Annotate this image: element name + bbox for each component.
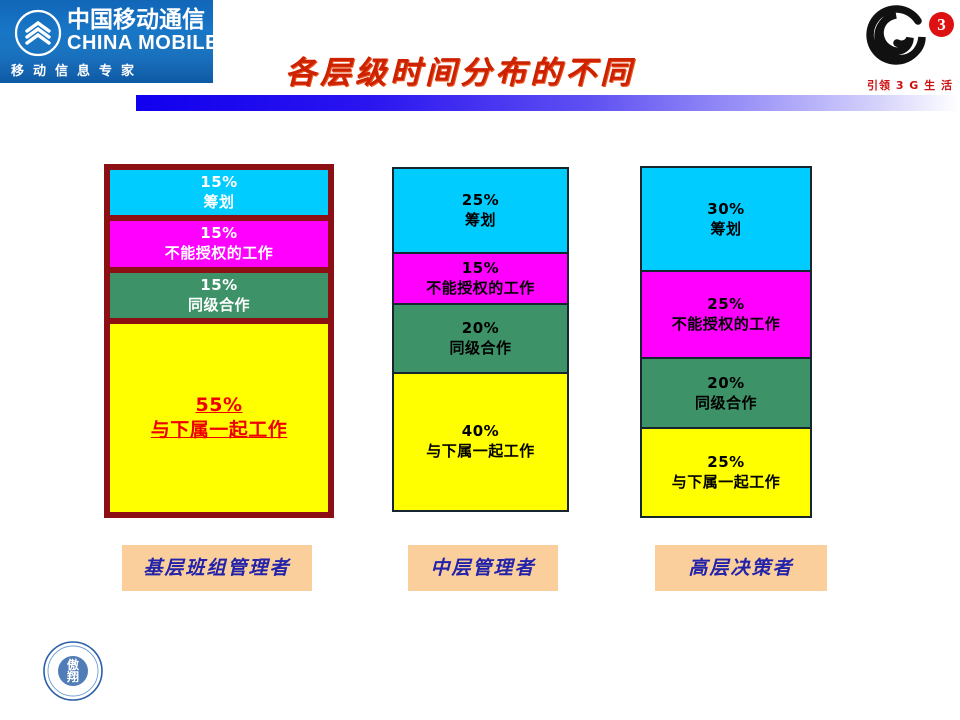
segment-label: 筹划 [710, 219, 741, 239]
threeg-corner-logo: 3 引领 3 G 生 活 [862, 2, 958, 102]
stacked-bar-column-0: 15%筹划15%不能授权的工作15%同级合作55%与下属一起工作 [104, 164, 334, 518]
segment-percent: 55% [196, 393, 243, 418]
brand-tagline-bar: 移动信息专家 [0, 58, 213, 83]
segment-label: 与下属一起工作 [672, 472, 781, 492]
segment-percent: 25% [707, 295, 744, 314]
china-mobile-logo-icon [14, 9, 62, 57]
brand-name-en: CHINA MOBILE [67, 32, 213, 54]
segment-label: 同级合作 [695, 393, 757, 413]
page-title: 各层级时间分布的不同 [245, 47, 675, 92]
role-label-senior: 高层决策者 [655, 545, 827, 591]
circular-seal-icon: 傲 翔 [40, 638, 106, 704]
brand-name-cn: 中国移动通信 [67, 7, 205, 33]
threeg-tagline: 引领 3 G 生 活 [862, 77, 958, 93]
segment-percent: 15% [200, 173, 237, 192]
bar-segment: 15%筹划 [110, 170, 328, 221]
segment-percent: 40% [462, 422, 499, 441]
segment-percent: 30% [707, 200, 744, 219]
segment-label: 不能授权的工作 [165, 243, 274, 263]
bar-segment: 55%与下属一起工作 [110, 324, 328, 512]
svg-text:翔: 翔 [66, 669, 79, 684]
bar-segment: 20%同级合作 [394, 305, 567, 373]
stacked-bar-column-1: 25%筹划15%不能授权的工作20%同级合作40%与下属一起工作 [392, 167, 569, 512]
header-gradient-rule [136, 95, 960, 111]
segment-percent: 25% [462, 191, 499, 210]
bar-segment: 20%同级合作 [642, 359, 810, 429]
bar-segment: 25%不能授权的工作 [642, 272, 810, 359]
g-spiral-icon [866, 4, 932, 70]
segment-label: 同级合作 [188, 295, 250, 315]
bar-segment: 15%不能授权的工作 [110, 221, 328, 272]
segment-label: 筹划 [465, 210, 496, 230]
segment-percent: 15% [200, 276, 237, 295]
bar-segment: 25%与下属一起工作 [642, 429, 810, 516]
china-mobile-brand-block: 中国移动通信 CHINA MOBILE 移动信息专家 [0, 0, 213, 83]
segment-label: 不能授权的工作 [426, 278, 535, 298]
segment-label: 不能授权的工作 [672, 314, 781, 334]
segment-label: 筹划 [203, 192, 234, 212]
bar-segment: 30%筹划 [642, 168, 810, 272]
bar-segment: 25%筹划 [394, 169, 567, 254]
segment-percent: 15% [200, 224, 237, 243]
threeg-badge: 3 [929, 12, 954, 37]
slide-header: 中国移动通信 CHINA MOBILE 移动信息专家 各层级时间分布的不同 3 … [0, 0, 960, 115]
segment-percent: 20% [707, 374, 744, 393]
bar-segment: 15%不能授权的工作 [394, 254, 567, 305]
segment-label: 与下属一起工作 [426, 441, 535, 461]
role-label-middle: 中层管理者 [408, 545, 558, 591]
segment-percent: 15% [462, 259, 499, 278]
segment-label: 同级合作 [449, 338, 511, 358]
brand-tagline: 移动信息专家 [11, 60, 203, 79]
role-label-frontline: 基层班组管理者 [122, 545, 312, 591]
segment-percent: 25% [707, 453, 744, 472]
bar-segment: 40%与下属一起工作 [394, 374, 567, 510]
stacked-bar-column-2: 30%筹划25%不能授权的工作20%同级合作25%与下属一起工作 [640, 166, 812, 518]
segment-label: 与下属一起工作 [151, 418, 288, 443]
bar-segment: 15%同级合作 [110, 273, 328, 324]
segment-percent: 20% [462, 319, 499, 338]
